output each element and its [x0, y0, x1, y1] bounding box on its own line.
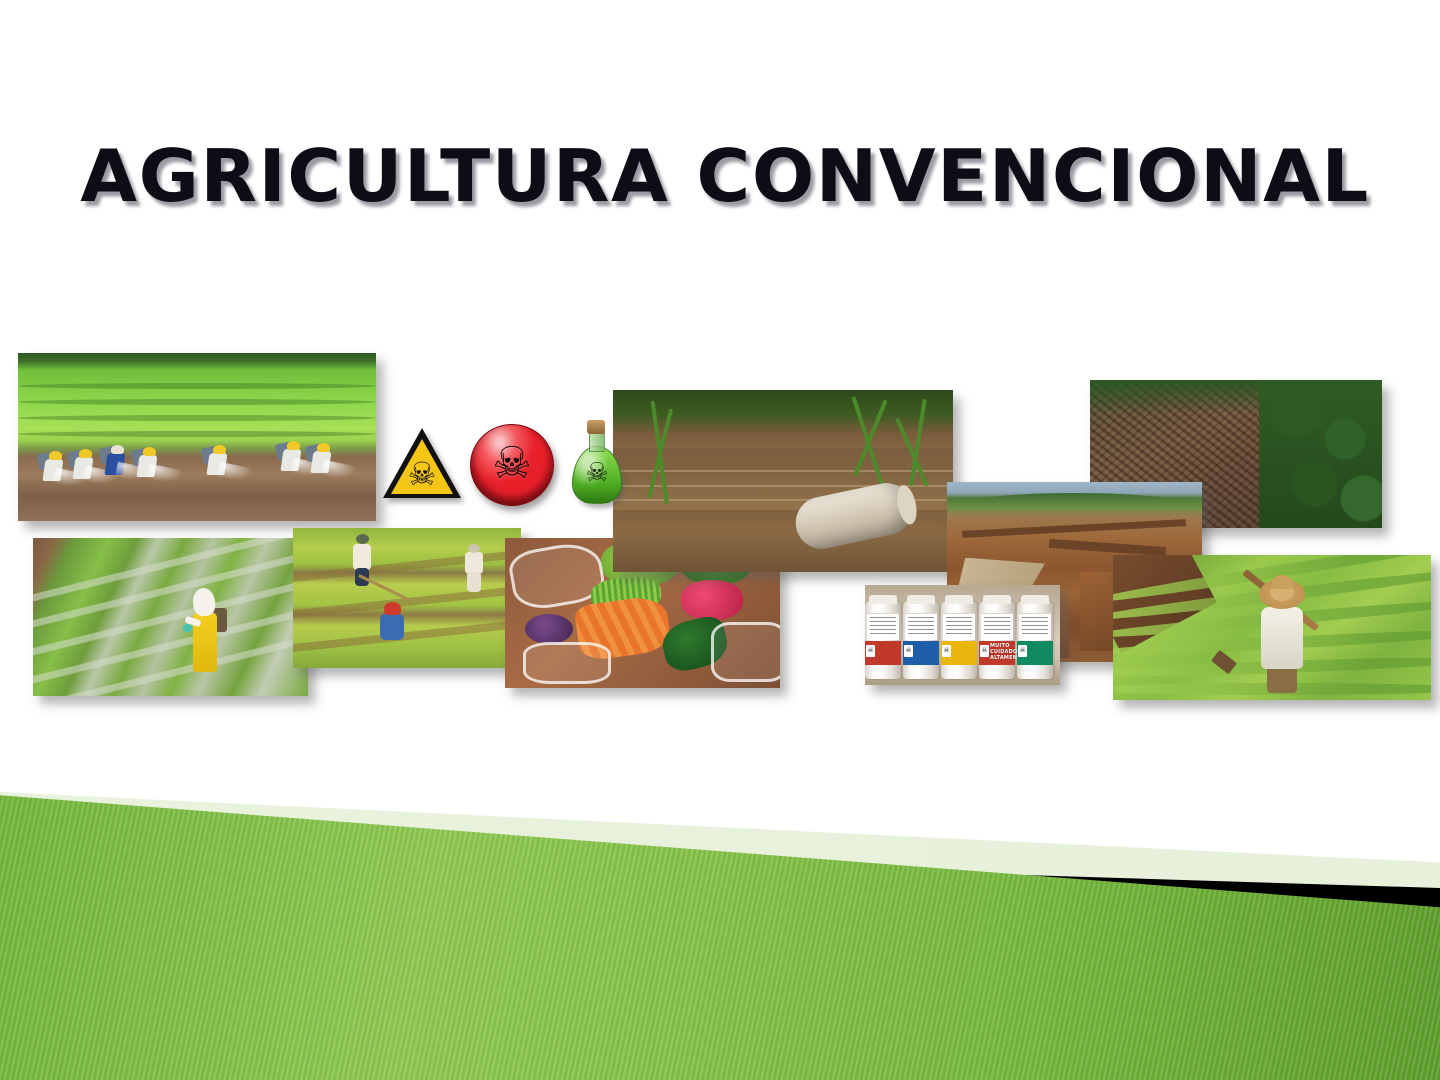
photo-backpack-sprayer-lettuce	[33, 538, 308, 696]
poison-red-button-skull-icon: ☠	[470, 424, 554, 506]
photo-collage: 1 LITRO ☠ 1 LITRO ☠ 1 LITRO ☠	[0, 330, 1440, 730]
warning-triangle-skull-icon: ☠	[383, 428, 461, 502]
pesticide-bottle: 1 LITRO ☠	[941, 601, 977, 679]
photo-discarded-container-polluted-stream	[613, 390, 953, 572]
pesticide-bottle: 1 LITRO ☠	[865, 601, 901, 679]
poison-flask-skull-icon: ☠	[568, 420, 626, 506]
photo-workers-spraying-field	[18, 353, 376, 521]
pesticide-bottle: 1 LITRO ☠	[903, 601, 939, 679]
photo-workers-lettuce-field	[293, 528, 521, 668]
skull-crossbones-glyph: ☠	[568, 458, 626, 486]
slide-footer-decoration	[0, 760, 1440, 1080]
skull-crossbones-glyph: ☠	[383, 458, 461, 490]
bottle-warning-text: MUITO CUIDADO ALTAMEN	[990, 643, 1014, 661]
skull-crossbones-glyph: ☠	[470, 438, 554, 490]
pesticide-bottle-warning: 1 LITRO ☠ MUITO CUIDADO ALTAMEN	[979, 601, 1015, 679]
presentation-slide: AGRICULTURA CONVENCIONAL	[0, 0, 1440, 1080]
photo-pesticide-bottles: 1 LITRO ☠ 1 LITRO ☠ 1 LITRO ☠	[865, 585, 1060, 685]
photo-farmer-with-hoe	[1113, 555, 1431, 700]
pesticide-bottle: 1 LITRO ☠	[1017, 601, 1053, 679]
page-title: AGRICULTURA CONVENCIONAL	[47, 140, 1404, 212]
